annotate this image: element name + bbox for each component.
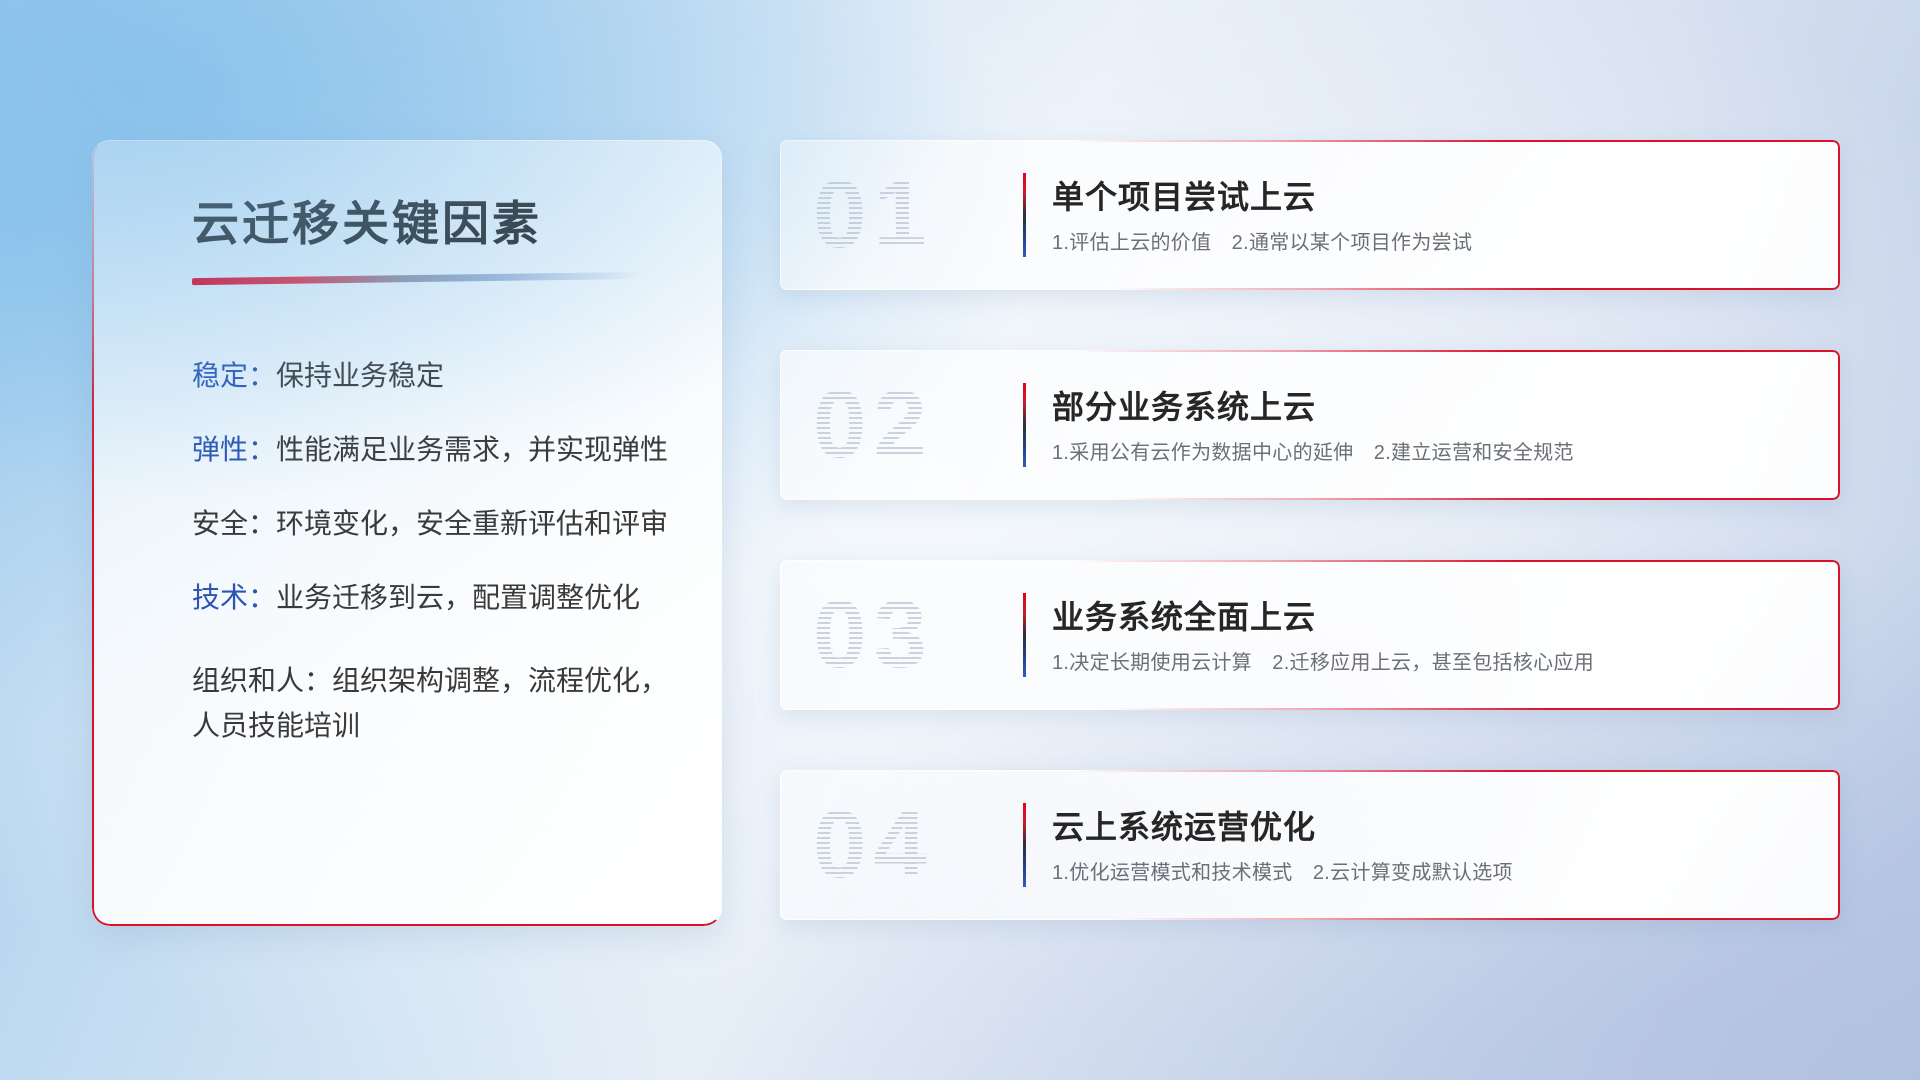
card-subtitle: 1.决定长期使用云计算 2.迁移应用上云，甚至包括核心应用	[1052, 646, 1594, 675]
card-number-tint: 03	[813, 587, 934, 683]
card-divider-bar	[1023, 173, 1026, 257]
card-title: 单个项目尝试上云	[1052, 172, 1316, 218]
card-number-04: 0404	[813, 797, 934, 893]
title-gradient-rule	[192, 272, 644, 285]
list-item-value: 业务迁移到云，配置调整优化	[276, 582, 640, 613]
list-item: 稳定：保持业务稳定	[192, 362, 696, 390]
list-item: 组织和人：组织架构调整，流程优化，人员技能培训	[192, 658, 696, 749]
list-item-value: 保持业务稳定	[276, 360, 444, 391]
card-title: 业务系统全面上云	[1052, 592, 1316, 638]
list-item-key: 稳定：	[192, 360, 276, 391]
list-item-value: 环境变化，安全重新评估和评审	[276, 508, 668, 539]
card-divider-bar	[1023, 593, 1026, 677]
page-title: 云迁移关键因素	[192, 185, 542, 254]
stage-card-04[interactable]: 0404 云上系统运营优化 1.优化运营模式和技术模式 2.云计算变成默认选项	[780, 770, 1840, 920]
card-number-01: 0101	[813, 167, 934, 263]
card-number-tint: 04	[813, 797, 934, 893]
key-factors-list: 稳定：保持业务稳定 弹性：性能满足业务需求，并实现弹性 安全：环境变化，安全重新…	[192, 362, 696, 749]
list-item-key: 安全：	[192, 508, 276, 539]
card-number-02: 0202	[813, 377, 934, 473]
key-factors-panel: 云迁移关键因素 稳定：保持业务稳定 弹性：性能满足业务需求，并实现弹性 安全：环…	[92, 140, 722, 926]
list-item: 弹性：性能满足业务需求，并实现弹性	[192, 436, 696, 464]
card-subtitle: 1.评估上云的价值 2.通常以某个项目作为尝试	[1052, 226, 1472, 255]
card-divider-bar	[1023, 803, 1026, 887]
card-number-tint: 01	[813, 167, 934, 263]
card-title: 部分业务系统上云	[1052, 382, 1316, 428]
card-title: 云上系统运营优化	[1052, 802, 1316, 848]
list-item: 技术：业务迁移到云，配置调整优化	[192, 584, 696, 612]
list-item-key: 技术：	[192, 582, 276, 613]
card-subtitle: 1.优化运营模式和技术模式 2.云计算变成默认选项	[1052, 856, 1513, 885]
stage-card-01[interactable]: 0101 单个项目尝试上云 1.评估上云的价值 2.通常以某个项目作为尝试	[780, 140, 1840, 290]
list-item-key: 弹性：	[192, 434, 276, 465]
list-item-key: 组织和人：	[192, 665, 332, 696]
stage-card-02[interactable]: 0202 部分业务系统上云 1.采用公有云作为数据中心的延伸 2.建立运营和安全…	[780, 350, 1840, 500]
list-item: 安全：环境变化，安全重新评估和评审	[192, 510, 696, 538]
list-item-value: 性能满足业务需求，并实现弹性	[276, 434, 668, 465]
card-subtitle: 1.采用公有云作为数据中心的延伸 2.建立运营和安全规范	[1052, 436, 1574, 465]
slide-canvas: 云迁移关键因素 稳定：保持业务稳定 弹性：性能满足业务需求，并实现弹性 安全：环…	[0, 0, 1920, 1080]
stage-card-03[interactable]: 0303 业务系统全面上云 1.决定长期使用云计算 2.迁移应用上云，甚至包括核…	[780, 560, 1840, 710]
card-number-tint: 02	[813, 377, 934, 473]
card-divider-bar	[1023, 383, 1026, 467]
card-number-03: 0303	[813, 587, 934, 683]
